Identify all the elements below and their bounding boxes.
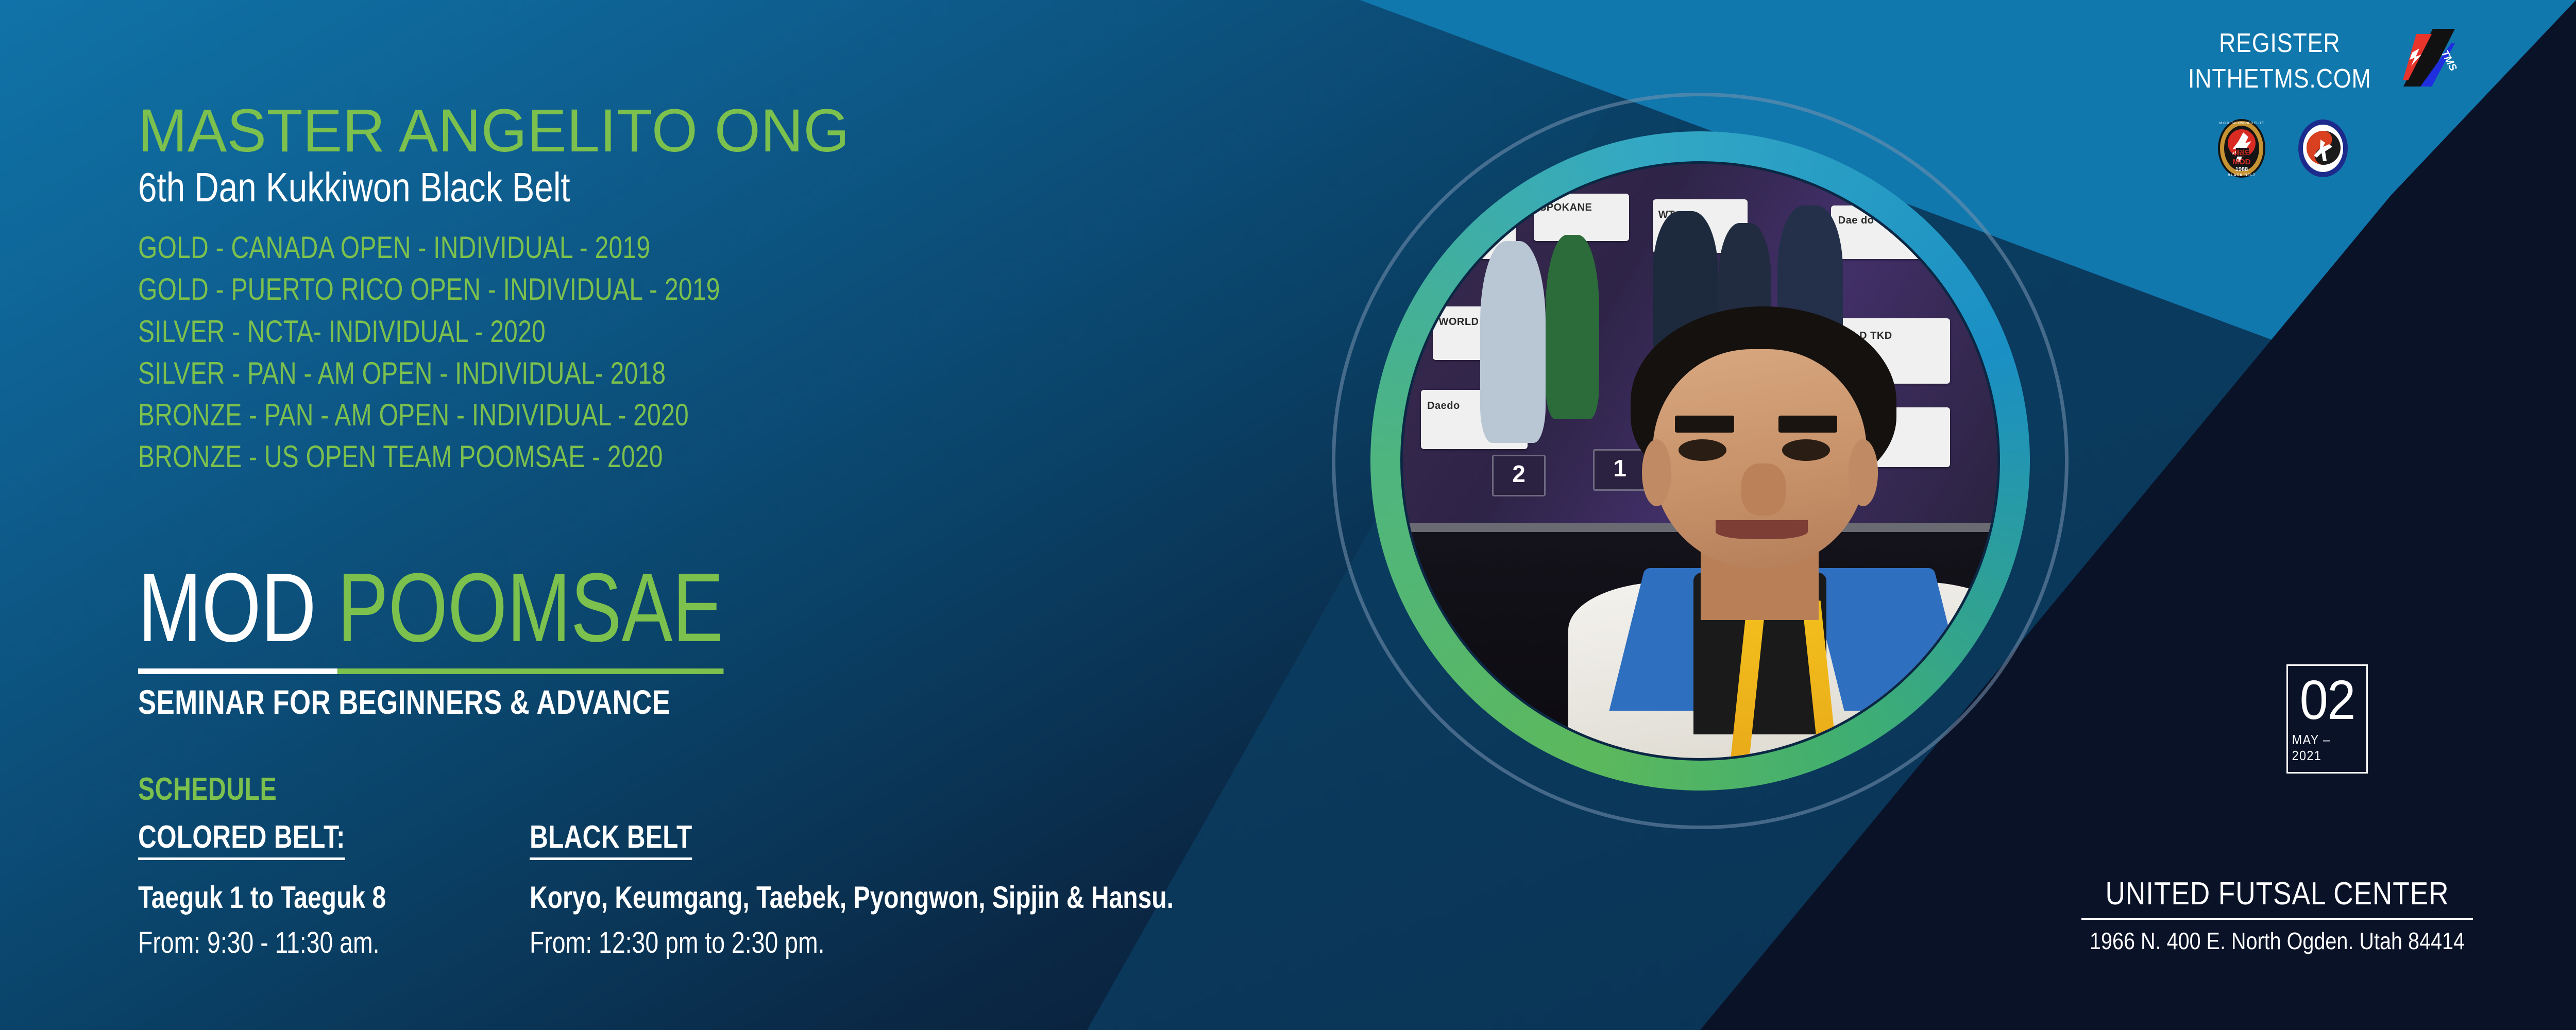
award-item: BRONZE - US OPEN TEAM POOMSAE - 2020 bbox=[138, 436, 720, 477]
photo-background-person bbox=[1546, 235, 1599, 419]
date-month-year: MAY – 2021 bbox=[2292, 732, 2363, 764]
ongs-taekwondo-logo-icon bbox=[2293, 118, 2353, 179]
awards-list: GOLD - CANADA OPEN - INDIVIDUAL - 2019 G… bbox=[138, 227, 866, 478]
event-title: MOD POOMSAE bbox=[138, 559, 723, 657]
registration-block: REGISTER INTHETMS.COM TMS bbox=[2173, 26, 2458, 179]
schedule-column-colored-belt: COLORED BELT: Taeguk 1 to Taeguk 8 From:… bbox=[138, 819, 448, 960]
award-item: SILVER - PAN - AM OPEN - INDIVIDUAL- 201… bbox=[138, 352, 720, 394]
svg-text:1988: 1988 bbox=[2235, 166, 2248, 173]
schedule-time: From: 12:30 pm to 2:30 pm. bbox=[530, 925, 1174, 960]
schedule-column-heading: BLACK BELT bbox=[530, 819, 692, 860]
schedule-heading: SCHEDULE bbox=[138, 771, 277, 808]
venue-address: 1966 N. 400 E. North Ogden. Utah 84414 bbox=[2056, 927, 2499, 955]
svg-text:태권도: 태권도 bbox=[2234, 149, 2249, 156]
instructor-subtitle: 6th Dan Kukkiwon Black Belt bbox=[138, 164, 570, 211]
svg-text:BLACK BELT: BLACK BELT bbox=[2228, 174, 2256, 177]
schedule-forms: Koryo, Keumgang, Taebek, Pyongwon, Sipji… bbox=[530, 880, 1174, 915]
register-url[interactable]: INTHETMS.COM bbox=[2188, 61, 2371, 97]
event-tagline: SEMINAR FOR BEGINNERS & ADVANCE bbox=[138, 682, 670, 722]
award-item: BRONZE - PAN - AM OPEN - INDIVIDUAL - 20… bbox=[138, 394, 720, 436]
tms-logo-icon: TMS bbox=[2401, 29, 2458, 87]
photo-background-person bbox=[1480, 241, 1546, 443]
schedule-forms: Taeguk 1 to Taeguk 8 bbox=[138, 880, 386, 915]
event-title-word-1: MOD bbox=[138, 553, 337, 674]
award-item: SILVER - NCTA- INDIVIDUAL - 2020 bbox=[138, 311, 720, 352]
venue-divider bbox=[2081, 918, 2473, 920]
instructor-name: MASTER ANGELITO ONG bbox=[138, 96, 850, 166]
schedule-time: From: 9:30 - 11:30 am. bbox=[138, 925, 386, 960]
date-badge: 02 MAY – 2021 bbox=[2286, 664, 2368, 774]
event-title-word-2: POOMSAE bbox=[337, 553, 723, 674]
photo-foreground-person bbox=[1605, 306, 1973, 758]
register-label: REGISTER bbox=[2188, 26, 2371, 61]
photo-sign: SPOKANE bbox=[1534, 194, 1629, 241]
venue-block: UNITED FUTSAL CENTER 1966 N. 400 E. Nort… bbox=[2020, 875, 2535, 955]
schedule-column-black-belt: BLACK BELT Koryo, Keumgang, Taebek, Pyon… bbox=[530, 819, 1334, 960]
svg-text:M.O.D. TAEKWONDO ELITE: M.O.D. TAEKWONDO ELITE bbox=[2219, 122, 2264, 125]
svg-text:MOD: MOD bbox=[2233, 158, 2251, 166]
seminar-poster: WT SPOKANE WT Dae do WORLD WORLD TKD Dae… bbox=[0, 0, 2576, 1030]
photo-sign: Dae do bbox=[1831, 205, 1950, 259]
venue-name: UNITED FUTSAL CENTER bbox=[2056, 875, 2499, 912]
award-item: GOLD - CANADA OPEN - INDIVIDUAL - 2019 bbox=[138, 227, 720, 268]
award-item: GOLD - PUERTO RICO OPEN - INDIVIDUAL - 2… bbox=[138, 268, 720, 310]
schedule-column-heading: COLORED BELT: bbox=[138, 819, 345, 860]
instructor-photo: WT SPOKANE WT Dae do WORLD WORLD TKD Dae… bbox=[1403, 164, 1997, 758]
club-logos: 태권도 MOD 1988 BLACK BELT M.O.D. TAEKWONDO… bbox=[2173, 118, 2392, 179]
date-day: 02 bbox=[2300, 674, 2355, 725]
mod-martial-arts-logo-icon: 태권도 MOD 1988 BLACK BELT M.O.D. TAEKWONDO… bbox=[2211, 118, 2272, 179]
photo-podium-2: 2 bbox=[1492, 455, 1546, 496]
